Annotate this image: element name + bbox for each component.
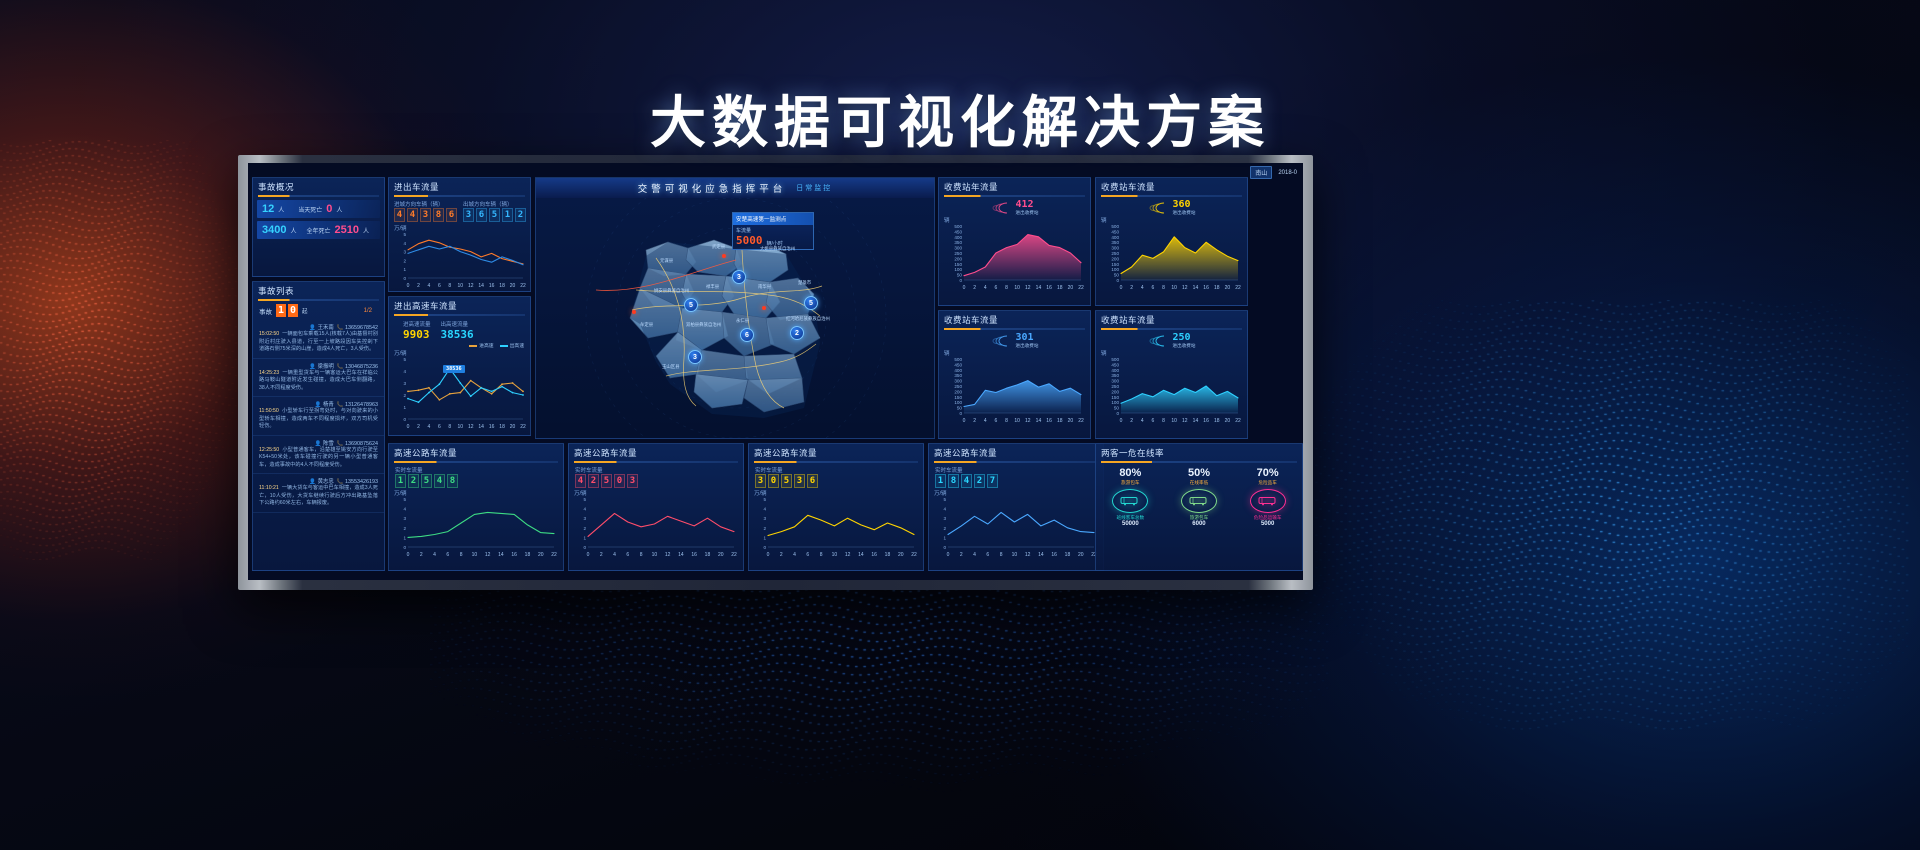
svg-text:0: 0 [943, 545, 946, 550]
map-pin-3[interactable]: 6 [740, 328, 754, 342]
svg-text:250: 250 [1111, 384, 1119, 389]
map-pin-5[interactable]: 5 [804, 296, 818, 310]
svg-text:3: 3 [403, 250, 406, 255]
svg-text:6: 6 [806, 552, 809, 558]
y-unit-label: 辆 [1101, 349, 1242, 357]
counter-digits: 30536 [755, 474, 917, 488]
counter-value: 9903 [403, 328, 431, 341]
svg-text:250: 250 [1111, 251, 1119, 256]
map-tooltip: 安楚高速第一监测点 车流量 5000 辆/小时 [732, 212, 814, 250]
svg-text:10: 10 [457, 424, 463, 430]
svg-text:12: 12 [665, 552, 671, 558]
svg-text:2: 2 [417, 424, 420, 430]
y-unit-label: 万/辆 [394, 224, 525, 232]
svg-text:10: 10 [1012, 552, 1018, 558]
svg-text:1: 1 [403, 267, 406, 272]
digit: 1 [395, 474, 406, 488]
svg-text:1: 1 [403, 535, 406, 540]
svg-text:300: 300 [954, 246, 962, 251]
particle-field-right [1290, 300, 1910, 730]
svg-text:14: 14 [678, 552, 684, 558]
panel-toll-station-3: 收费站车流量301进出收费站辆0501001502002503003504004… [938, 310, 1091, 439]
accident-meta: 👤 杨青 📞 13126478963 [259, 400, 378, 408]
panel-subtitle: 实时车流量 [575, 466, 737, 474]
digit: 3 [420, 208, 431, 222]
svg-text:2: 2 [600, 552, 603, 558]
digit: 6 [807, 474, 818, 488]
accident-time: 11:50:50 [259, 408, 279, 414]
panel-subtitle: 实时车流量 [755, 466, 917, 474]
svg-text:18: 18 [1057, 418, 1063, 424]
map-city-label: 大姚县彝族自治州 [760, 246, 795, 252]
accident-time: 11:10:21 [259, 485, 279, 491]
digit: 3 [794, 474, 805, 488]
svg-text:400: 400 [1111, 368, 1119, 373]
svg-text:18: 18 [1065, 552, 1071, 558]
svg-text:2: 2 [420, 552, 423, 558]
svg-text:12: 12 [468, 283, 474, 289]
svg-text:250: 250 [954, 251, 962, 256]
svg-text:50: 50 [1114, 273, 1120, 278]
svg-text:6: 6 [986, 552, 989, 558]
svg-text:1: 1 [583, 535, 586, 540]
svg-text:0: 0 [1116, 278, 1119, 283]
svg-text:20: 20 [538, 552, 544, 558]
panel-highway-flow-2: 高速公路车流量实时车流量42503万/辆01234502468101214161… [568, 443, 744, 571]
counter-label: 进城方向车辆（辆） [394, 200, 457, 208]
region-chip[interactable]: 南山 [1250, 166, 1272, 179]
svg-text:400: 400 [954, 368, 962, 373]
digit: 4 [394, 208, 405, 222]
y-unit-label: 万/辆 [754, 489, 918, 497]
svg-text:4: 4 [763, 507, 766, 512]
svg-text:18: 18 [499, 424, 505, 430]
online-rate-pct: 70% [1242, 467, 1294, 479]
accident-meta: 👤 梁振明 📞 13046875236 [259, 362, 378, 370]
svg-text:14: 14 [1036, 285, 1042, 291]
accident-item[interactable]: 👤 黄志忠 📞 1355342619311:10:21 一辆大货车与客运中巴车相… [253, 474, 384, 513]
svg-text:150: 150 [954, 395, 962, 400]
svg-text:4: 4 [984, 418, 987, 424]
svg-text:0: 0 [947, 552, 950, 558]
panel-toll-station-4: 收费站车流量250进出收费站辆0501001502002503003504004… [1095, 310, 1248, 439]
stat-row-year: 3400 人 全年死亡 2510 人 [257, 221, 380, 239]
scene-background: 大数据可视化解决方案 南山 2018-0 事故概况 12 人 当天死亡 0 人 [0, 0, 1920, 850]
panel-highway-flow-3: 高速公路车流量实时车流量30536万/辆01234502468101214161… [748, 443, 924, 571]
digit: 5 [781, 474, 792, 488]
svg-text:14: 14 [498, 552, 504, 558]
accident-count-unit: 起 [302, 307, 308, 315]
online-rate-sub: 在线率低 [1173, 480, 1225, 486]
svg-text:6: 6 [446, 552, 449, 558]
digit: 5 [421, 474, 432, 488]
y-unit-label: 万/辆 [934, 489, 1098, 497]
toll-value: 412 [1016, 199, 1039, 210]
svg-text:10: 10 [472, 552, 478, 558]
svg-text:1: 1 [763, 535, 766, 540]
map-hotspot-2[interactable] [762, 306, 766, 310]
svg-text:5: 5 [943, 497, 946, 502]
svg-text:2: 2 [417, 283, 420, 289]
online-rate-pct: 50% [1173, 467, 1225, 479]
online-rate-number: 5000 [1242, 521, 1294, 527]
svg-text:22: 22 [1235, 418, 1241, 424]
map-city-label: 元谋县 [660, 258, 673, 264]
svg-text:10: 10 [652, 552, 658, 558]
accident-meta: 👤 王禾南 📞 13659678542 [259, 323, 378, 331]
map-canvas[interactable]: 安楚高速第一监测点 车流量 5000 辆/小时 536253 元谋县武定县大姚县… [536, 198, 934, 438]
svg-text:22: 22 [1235, 285, 1241, 291]
svg-text:16: 16 [489, 283, 495, 289]
svg-text:14: 14 [1193, 418, 1199, 424]
svg-text:4: 4 [403, 507, 406, 512]
legend-item-in: 进高速 [469, 342, 493, 349]
counter-label: 进高速流量 [403, 320, 431, 328]
svg-text:10: 10 [1171, 285, 1177, 291]
svg-text:12: 12 [1025, 552, 1031, 558]
map-pin-2[interactable]: 3 [732, 270, 746, 284]
panel-title: 事故列表 [253, 282, 384, 299]
today-injured-value: 12 [262, 203, 274, 215]
accident-item[interactable]: 👤 梁振明 📞 1304687523614:25:23 一辆重型货车与一辆客运大… [253, 359, 384, 398]
title-underline [258, 195, 379, 197]
svg-text:22: 22 [1078, 418, 1084, 424]
svg-text:20: 20 [510, 283, 516, 289]
toll-value: 250 [1173, 332, 1196, 343]
svg-text:100: 100 [1111, 267, 1119, 272]
accident-text: 12:25:50 小型普通客车，沿楚雄至姚安方向行驶至K54+50米处，该车碰撞… [259, 447, 378, 470]
svg-text:1: 1 [403, 405, 406, 410]
svg-text:8: 8 [1162, 418, 1165, 424]
map-city-label: 玉山区县 [662, 364, 680, 370]
svg-text:6: 6 [1152, 418, 1155, 424]
digit: 4 [407, 208, 418, 222]
accident-count-label: 事故 [259, 306, 272, 316]
signal-waves-icon [991, 334, 1013, 348]
map-pin-6[interactable]: 3 [688, 350, 702, 364]
svg-text:0: 0 [403, 417, 406, 422]
svg-text:6: 6 [995, 418, 998, 424]
stat-row-today: 12 人 当天死亡 0 人 [257, 200, 380, 218]
svg-text:3: 3 [403, 381, 406, 386]
signal-waves-icon [1148, 201, 1170, 215]
today-injured-unit: 人 [278, 205, 284, 214]
digit: 3 [463, 208, 474, 222]
svg-text:18: 18 [1057, 285, 1063, 291]
legend-item-out: 出高速 [500, 342, 524, 349]
svg-text:2: 2 [583, 526, 586, 531]
svg-text:4: 4 [1141, 285, 1144, 291]
svg-text:2: 2 [763, 526, 766, 531]
digit: 2 [515, 208, 526, 222]
svg-text:200: 200 [1111, 256, 1119, 261]
svg-text:4: 4 [943, 507, 946, 512]
svg-text:8: 8 [460, 552, 463, 558]
svg-text:16: 16 [871, 552, 877, 558]
counter-label: 出高速流量 [441, 320, 474, 328]
tooltip-title: 安楚高速第一监测点 [733, 213, 813, 225]
svg-text:16: 16 [1051, 552, 1057, 558]
counter-digits: 44386 [394, 208, 457, 222]
svg-text:450: 450 [954, 229, 962, 234]
svg-text:14: 14 [478, 283, 484, 289]
svg-text:12: 12 [1182, 418, 1188, 424]
map-city-label: 双柏县彝族自治州 [686, 322, 721, 328]
svg-text:6: 6 [1152, 285, 1155, 291]
toll-value: 360 [1173, 199, 1196, 210]
chart-toll-station-3: 0501001502002503003504004505000246810121… [944, 357, 1085, 425]
svg-text:8: 8 [1162, 285, 1165, 291]
svg-text:8: 8 [1000, 552, 1003, 558]
svg-text:350: 350 [1111, 240, 1119, 245]
svg-text:150: 150 [1111, 262, 1119, 267]
svg-text:14: 14 [1036, 418, 1042, 424]
panel-title: 事故概况 [253, 178, 384, 195]
map-city-label: 禄丰县 [706, 284, 719, 290]
panel-title: 进出车流量 [389, 178, 530, 195]
bus-icon [1189, 496, 1209, 506]
svg-text:10: 10 [457, 283, 463, 289]
accident-count-digits: 10 [276, 304, 298, 317]
digit: 5 [601, 474, 612, 488]
svg-text:4: 4 [403, 241, 406, 246]
map-city-label: 牟定县 [640, 322, 653, 328]
map-city-label: 武定县 [712, 244, 725, 250]
svg-text:0: 0 [959, 411, 962, 416]
legend-highway-inout: 进高速 出高速 [389, 341, 530, 349]
svg-text:2: 2 [780, 552, 783, 558]
digit: 6 [446, 208, 457, 222]
digit: 4 [575, 474, 586, 488]
digit: 3 [755, 474, 766, 488]
svg-text:300: 300 [1111, 246, 1119, 251]
today-death-label: 当天死亡 [298, 205, 322, 214]
svg-text:18: 18 [499, 283, 505, 289]
online-rate-items: 80%旅游包车班线客车总数5000050%在线率低旅游包车600070%危险品车… [1096, 463, 1302, 527]
chart-toll-station-2: 0501001502002503003504004505000246810121… [1101, 224, 1242, 292]
svg-text:0: 0 [407, 283, 410, 289]
online-rate-number: 6000 [1173, 521, 1225, 527]
svg-text:2: 2 [403, 526, 406, 531]
svg-text:12: 12 [1025, 418, 1031, 424]
svg-text:0: 0 [407, 552, 410, 558]
svg-text:22: 22 [520, 283, 526, 289]
panel-title: 收费站车流量 [1096, 178, 1247, 195]
svg-text:2: 2 [973, 285, 976, 291]
year-death-label: 全年死亡 [307, 226, 331, 235]
svg-text:20: 20 [1078, 552, 1084, 558]
svg-text:2: 2 [1130, 285, 1133, 291]
svg-text:0: 0 [1120, 418, 1123, 424]
panel-accident-overview: 事故概况 12 人 当天死亡 0 人 3400 人 全年死亡 2510 人 [252, 177, 385, 277]
svg-text:16: 16 [1046, 418, 1052, 424]
digit: 8 [447, 474, 458, 488]
svg-text:14: 14 [478, 424, 484, 430]
dashboard-title: 交警可视化应急指挥平台 [638, 181, 787, 195]
accident-count-row: 事故 10 起 1/2 [253, 301, 384, 320]
map-hotspot-3[interactable] [722, 254, 726, 258]
svg-text:16: 16 [511, 552, 517, 558]
accident-item[interactable]: 👤 杨青 📞 1312647896311:50:50 小型轿车行至拐弯处时，与对… [253, 397, 384, 436]
svg-text:4: 4 [583, 507, 586, 512]
today-death-value: 0 [326, 203, 332, 215]
svg-text:5: 5 [403, 497, 406, 502]
panel-inout-flow: 进出车流量 进城方向车辆（辆） 44386 出城方向车辆（辆） 36512 万/… [388, 177, 531, 292]
accident-items[interactable]: 👤 王禾南 📞 1365967854215:02:50 一辆面包车乘载15人(核… [253, 320, 384, 513]
chart-highway-flow-2: 0123450246810121416182022 [574, 497, 738, 559]
svg-text:22: 22 [1078, 285, 1084, 291]
tooltip-value: 5000 [736, 234, 763, 247]
online-rate-pct: 80% [1104, 467, 1156, 479]
svg-text:12: 12 [468, 424, 474, 430]
svg-text:16: 16 [489, 424, 495, 430]
svg-text:8: 8 [820, 552, 823, 558]
panel-online-rate: 两客一危在线率 80%旅游包车班线客车总数5000050%在线率低旅游包车600… [1095, 443, 1303, 571]
particle-field-bottom [430, 560, 1330, 810]
digit: 0 [768, 474, 779, 488]
svg-text:500: 500 [954, 224, 962, 229]
panel-title: 高速公路车流量 [389, 444, 563, 461]
panel-title: 高速公路车流量 [569, 444, 743, 461]
counter-digits: 42503 [575, 474, 737, 488]
svg-text:50: 50 [957, 273, 963, 278]
person-icon: 👤 [315, 441, 322, 447]
svg-text:4: 4 [613, 552, 616, 558]
digit: 8 [433, 208, 444, 222]
svg-text:3: 3 [763, 516, 766, 521]
chart-highway-flow-4: 0123450246810121416182022 [934, 497, 1098, 559]
svg-text:450: 450 [954, 362, 962, 367]
map-city-label: 楚雄市 [798, 280, 811, 286]
panel-title: 收费站车流量 [939, 311, 1090, 328]
y-unit-label: 辆 [944, 216, 1085, 224]
counter-digits: 36512 [463, 208, 526, 222]
svg-text:400: 400 [1111, 235, 1119, 240]
wall-screen: 南山 2018-0 事故概况 12 人 当天死亡 0 人 3400 人 全年死亡 [248, 163, 1303, 580]
vehicle-icon [1181, 489, 1217, 513]
svg-text:18: 18 [885, 552, 891, 558]
accident-pager[interactable]: 1/2 [364, 308, 378, 314]
svg-text:400: 400 [954, 235, 962, 240]
y-unit-label: 万/辆 [574, 489, 738, 497]
chart-callout: 38536 [443, 365, 465, 373]
svg-text:3: 3 [943, 516, 946, 521]
accident-text: 14:25:23 一辆重型货车与一辆客运大巴车在祥临公路马鞍山隧道附近发生碰撞，… [259, 370, 378, 393]
svg-text:150: 150 [954, 262, 962, 267]
accident-text: 11:10:21 一辆大货车与客运中巴车相撞，造成3人死亡，10人受伤，大货车继… [259, 485, 378, 508]
wall-topbar: 南山 2018-0 [1244, 163, 1303, 182]
svg-text:12: 12 [1182, 285, 1188, 291]
svg-text:500: 500 [1111, 357, 1119, 362]
counter-digits: 12548 [395, 474, 557, 488]
signal-waves-icon [991, 201, 1013, 215]
digit: 1 [502, 208, 513, 222]
counter-highway-out: 出高速流量 38536 [441, 320, 474, 341]
map-pin-4[interactable]: 2 [790, 326, 804, 340]
dashboard-subtitle[interactable]: 日常监控 [796, 183, 832, 193]
svg-text:0: 0 [1116, 411, 1119, 416]
accident-item[interactable]: 👤 王禾南 📞 1365967854215:02:50 一辆面包车乘载15人(核… [253, 320, 384, 359]
svg-text:0: 0 [767, 552, 770, 558]
online-rate-sub: 危险品车 [1242, 480, 1294, 486]
vehicle-icon [1112, 489, 1148, 513]
svg-text:20: 20 [1068, 285, 1074, 291]
accident-item[interactable]: 👤 陈雪 📞 1369087562412:25:50 小型普通客车，沿楚雄至姚安… [253, 436, 384, 475]
svg-text:4: 4 [973, 552, 976, 558]
video-wall: 南山 2018-0 事故概况 12 人 当天死亡 0 人 3400 人 全年死亡 [238, 155, 1313, 590]
svg-text:4: 4 [1141, 418, 1144, 424]
svg-text:2: 2 [943, 526, 946, 531]
accident-text: 15:02:50 一辆面包车乘载15人(核载7人)由基督村别附近村庄驶入县道，行… [259, 331, 378, 354]
map-hotspot-1[interactable] [632, 310, 636, 314]
counter-value: 38536 [441, 328, 474, 341]
svg-text:16: 16 [1046, 285, 1052, 291]
svg-text:18: 18 [1214, 418, 1220, 424]
online-rate-item-3: 70%危险品车危险品运输车5000 [1242, 467, 1294, 527]
svg-text:2: 2 [960, 552, 963, 558]
svg-text:20: 20 [1068, 418, 1074, 424]
svg-text:12: 12 [485, 552, 491, 558]
svg-text:20: 20 [1225, 418, 1231, 424]
svg-text:250: 250 [954, 384, 962, 389]
vehicle-icon [1250, 489, 1286, 513]
accident-time: 15:02:50 [259, 331, 279, 337]
svg-text:0: 0 [403, 545, 406, 550]
bus-icon [1258, 496, 1278, 506]
online-rate-number: 50000 [1104, 521, 1156, 527]
digit: 4 [434, 474, 445, 488]
phone-icon: 📞 [337, 441, 344, 447]
digit: 0 [614, 474, 625, 488]
panel-toll-station-1: 收费站年流量412进出收费站辆0501001502002503003504004… [938, 177, 1091, 306]
digit: 1 [935, 474, 946, 488]
svg-text:4: 4 [433, 552, 436, 558]
chart-inout-flow: 0123450246810121416182022 [394, 232, 527, 290]
svg-text:4: 4 [428, 283, 431, 289]
svg-text:16: 16 [1203, 418, 1209, 424]
svg-text:14: 14 [1038, 552, 1044, 558]
panel-highway-flow-1: 高速公路车流量实时车流量12548万/辆01234502468101214161… [388, 443, 564, 571]
chart-toll-station-1: 0501001502002503003504004505000246810121… [944, 224, 1085, 292]
count-digit: 0 [288, 304, 298, 317]
svg-text:6: 6 [626, 552, 629, 558]
svg-text:10: 10 [832, 552, 838, 558]
svg-text:5: 5 [403, 232, 406, 237]
digit: 2 [974, 474, 985, 488]
map-city-label: 永仁县 [736, 318, 749, 324]
panel-accident-list: 事故列表 事故 10 起 1/2 👤 王禾南 📞 1365967854215:0… [252, 281, 385, 571]
svg-text:6: 6 [438, 283, 441, 289]
map-pin-1[interactable]: 5 [684, 298, 698, 312]
svg-text:5: 5 [403, 357, 406, 362]
accident-time: 12:25:50 [259, 447, 279, 453]
online-rate-item-1: 80%旅游包车班线客车总数50000 [1104, 467, 1156, 527]
svg-text:500: 500 [1111, 224, 1119, 229]
svg-text:8: 8 [1005, 418, 1008, 424]
panel-title: 两客一危在线率 [1096, 444, 1302, 461]
accident-time: 14:25:23 [259, 370, 279, 376]
year-injured-unit: 人 [290, 226, 296, 235]
y-unit-label: 万/辆 [394, 349, 525, 357]
chart-highway-flow-3: 0123450246810121416182022 [754, 497, 918, 559]
accident-meta: 👤 陈雪 📞 13690875624 [259, 439, 378, 447]
svg-text:450: 450 [1111, 229, 1119, 234]
svg-text:20: 20 [1225, 285, 1231, 291]
panel-toll-station-2: 收费站车流量360进出收费站辆0501001502002503003504004… [1095, 177, 1248, 306]
panel-title: 高速公路车流量 [749, 444, 923, 461]
panel-title: 高速公路车流量 [929, 444, 1103, 461]
svg-text:12: 12 [1025, 285, 1031, 291]
